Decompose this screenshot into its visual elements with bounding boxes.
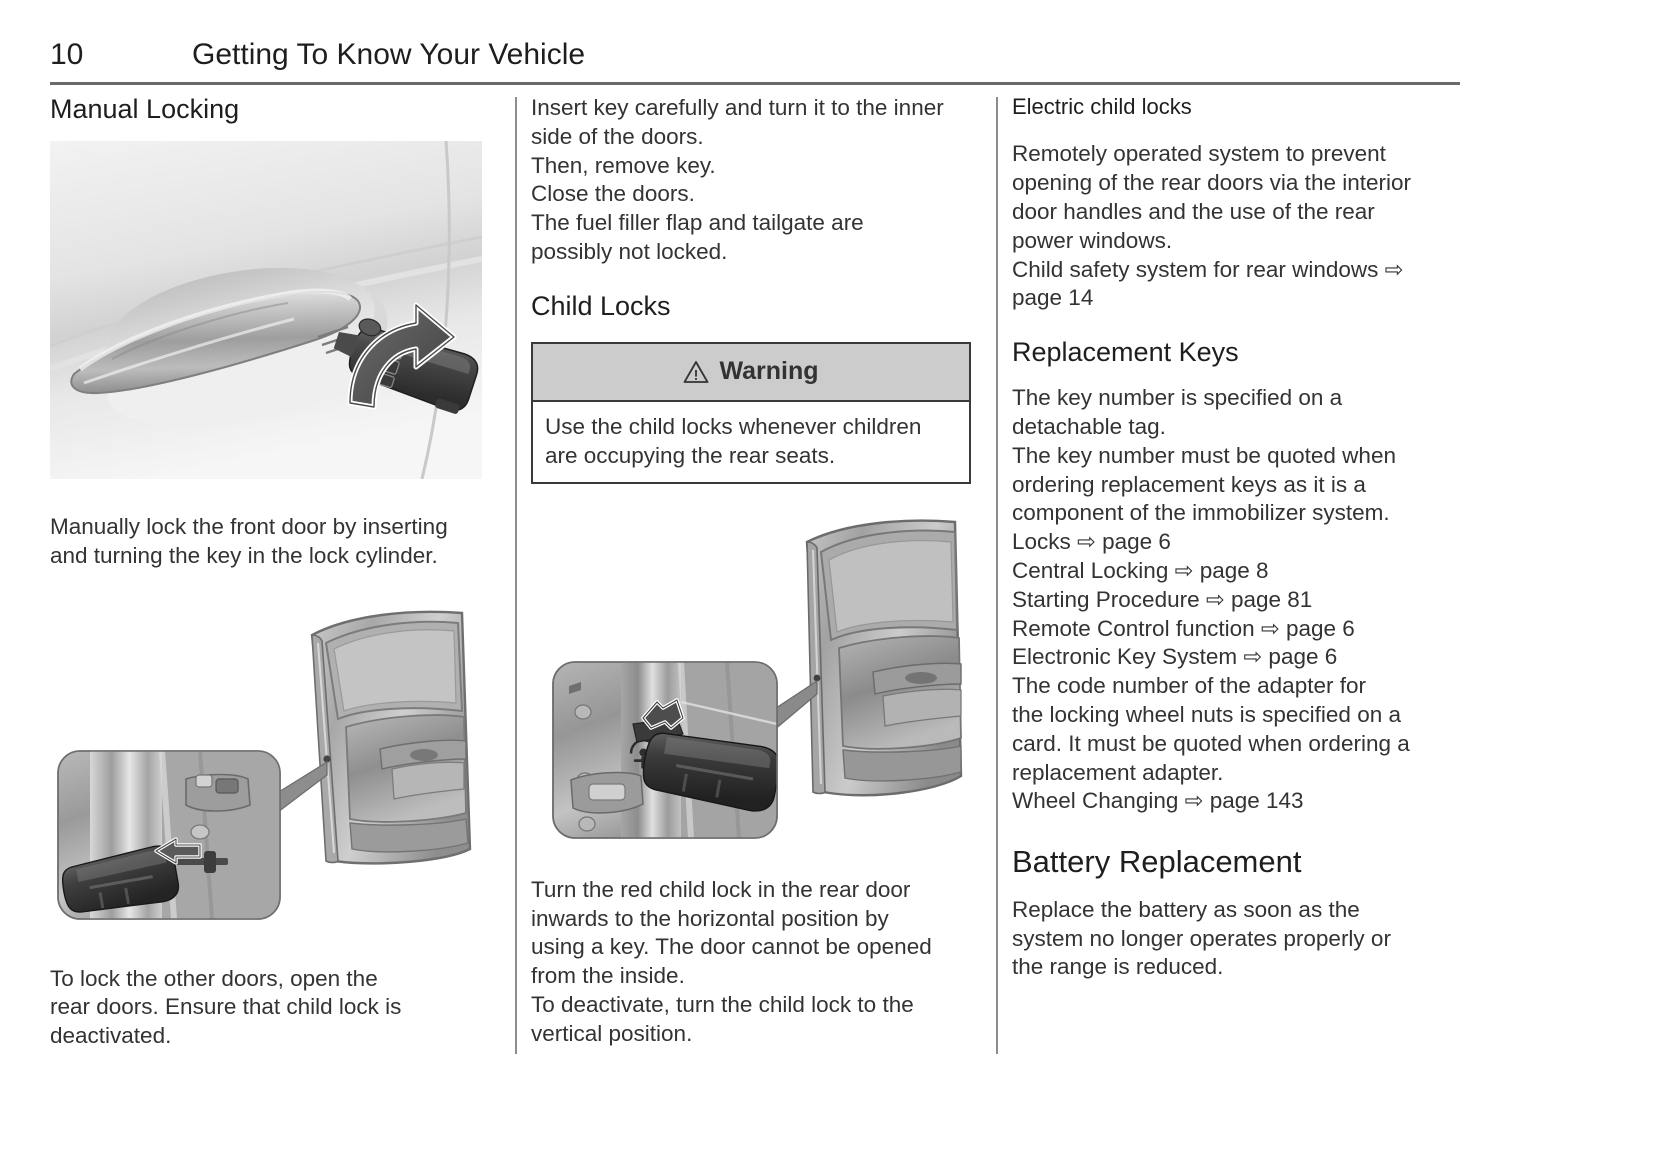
door-handle-with-key-figure (50, 141, 482, 479)
page-title: Getting To Know Your Vehicle (192, 38, 585, 72)
middle-column: Insert key carefully and turn it to the … (531, 94, 979, 1054)
front-door-illustration (50, 599, 482, 925)
content-columns: Manual Locking (50, 94, 1460, 1054)
right-column: Electric child locks Remotely operated s… (1012, 94, 1460, 1054)
warning-header: Warning (533, 344, 969, 402)
column-divider-1 (515, 97, 517, 1054)
section-title-manual-locking: Manual Locking (50, 94, 498, 125)
section-title-battery-replacement: Battery Replacement (1012, 844, 1460, 880)
warning-triangle-icon (683, 360, 709, 384)
warning-text: Use the child locks whenever children ar… (545, 412, 957, 470)
column-gap-1 (498, 94, 531, 1054)
front-door-lock-cylinder-figure (50, 599, 482, 925)
left-paragraph-1: Manually lock the front door by insertin… (50, 513, 498, 571)
door-handle-illustration (50, 141, 482, 479)
right-paragraph-1: Remotely operated system to prevent open… (1012, 140, 1460, 313)
right-paragraph-3: Replace the battery as soon as the syste… (1012, 896, 1460, 982)
open-front-door (312, 611, 470, 863)
left-column: Manual Locking (50, 94, 498, 1054)
child-lock-detail-callout (553, 662, 782, 838)
open-rear-door (807, 520, 961, 795)
middle-paragraph-1: Insert key carefully and turn it to the … (531, 94, 979, 267)
warning-body: Use the child locks whenever children ar… (533, 402, 969, 482)
lock-cylinder-detail-callout (58, 751, 280, 919)
manual-page: 10 Getting To Know Your Vehicle Manual L… (0, 0, 1653, 1165)
right-paragraph-2: The key number is specified on a detacha… (1012, 384, 1460, 816)
page-header: 10 Getting To Know Your Vehicle (50, 38, 1460, 85)
middle-paragraph-2: Turn the red child lock in the rear door… (531, 876, 979, 1049)
column-gap-2 (979, 94, 1012, 1054)
warning-label: Warning (719, 357, 818, 386)
rear-door-illustration (531, 512, 963, 842)
section-title-child-locks: Child Locks (531, 291, 979, 322)
column-divider-2 (996, 97, 998, 1054)
warning-box: Warning Use the child locks whenever chi… (531, 342, 971, 484)
rear-door-child-lock-figure (531, 512, 963, 842)
page-number: 10 (50, 38, 192, 72)
subsection-title-electric-child-locks: Electric child locks (1012, 94, 1460, 120)
section-title-replacement-keys: Replacement Keys (1012, 337, 1460, 368)
left-paragraph-2: To lock the other doors, open the rear d… (50, 965, 498, 1051)
